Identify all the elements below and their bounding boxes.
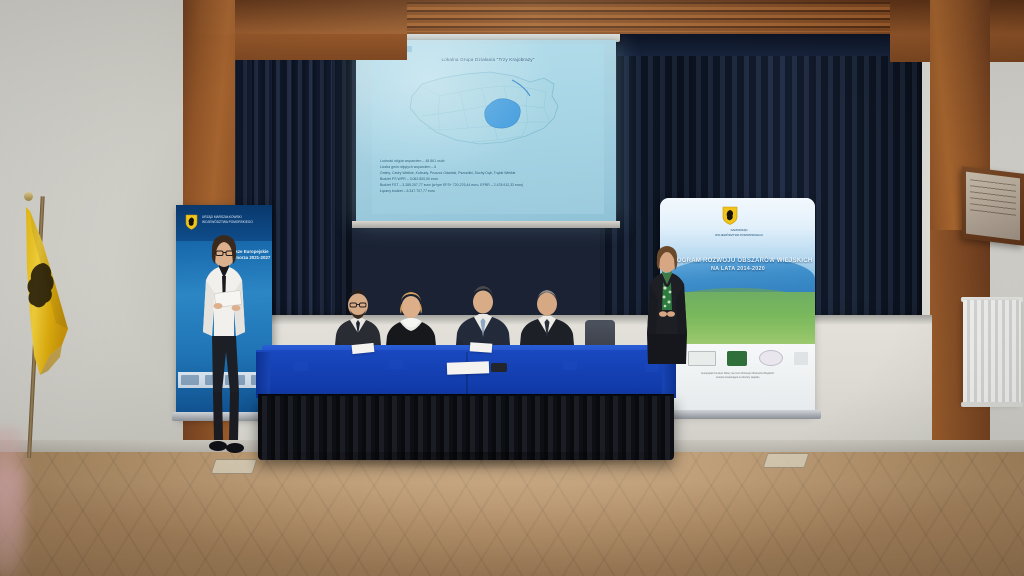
rollup-banner-right-base [656,410,821,419]
wall-picture-detail [970,179,1016,219]
table-badge-right [645,363,659,372]
ksow-logo-icon [759,350,783,366]
rollup-right-fine-line2: Europa inwestująca w obszary wiejskie [666,376,810,380]
floor-reflection [0,452,1024,576]
prow-logo-icon [727,351,747,366]
rollup-right-org: SAMORZĄD WOJEWÓDZTWA POMORSKIEGO [686,228,792,237]
table-cloth-fold-left [256,352,270,398]
radiator-bottom-rail [961,402,1023,407]
rollup-left-org-line2: WOJEWÓDZTWA POMORSKIEGO [202,220,264,225]
screen-glare [356,40,616,223]
conference-photo-scene: Lokalna Grupa Działania "Trzy Krajobrazy… [0,0,1024,576]
proscenium-highlight [183,0,1024,34]
rollup-left-org: URZĄD MARSZAŁKOWSKI WOJEWÓDZTWA POMORSKI… [202,215,264,225]
projection-screen-weight-bar [352,221,620,228]
rollup-right-fine-print: Europejski Fundusz Rolny na rzecz Rozwoj… [666,372,810,380]
table-cloth-seam [466,352,468,398]
standing-presenter-left [192,232,258,460]
table-badge-center-right [563,361,577,370]
standing-person-right [640,244,694,364]
stamp-object [491,363,507,372]
table-badge-center-left [389,360,403,369]
pomeranian-flag [16,205,76,395]
document-paper [470,342,493,353]
table-badge-left [294,362,308,371]
rollup-right-org-line2: WOJEWÓDZTWA POMORSKIEGO [686,233,792,238]
document-stack [447,361,489,374]
pomeranian-griffin-crest-icon [185,214,198,230]
pomeranian-griffin-crest-icon [722,206,738,225]
table-skirt [258,396,674,460]
floor-socket-cover [763,453,810,468]
partner-logo-icon [794,352,808,365]
foreground-blur-figure-lower [0,470,24,576]
radiator [963,300,1021,404]
table-floor-shadow [250,452,690,470]
flag-finial-icon [24,192,33,201]
